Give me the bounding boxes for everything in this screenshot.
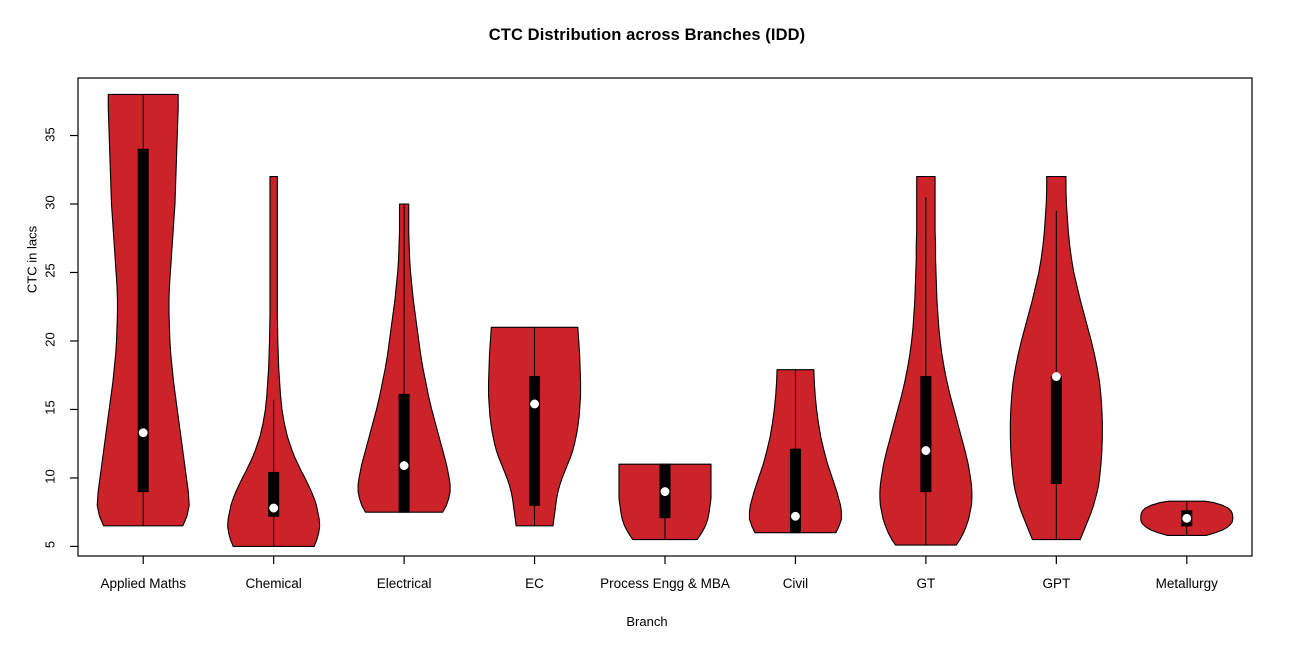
violin-group — [880, 177, 972, 545]
x-tick-label: Process Engg & MBA — [600, 576, 730, 591]
x-tick-label: Electrical — [377, 576, 432, 591]
iqr-box — [138, 149, 148, 491]
x-tick-label: EC — [525, 576, 544, 591]
median-point — [139, 429, 147, 437]
violin-group — [358, 204, 450, 512]
median-point — [530, 400, 538, 408]
y-tick-label: 30 — [43, 183, 58, 223]
median-point — [922, 446, 930, 454]
iqr-box — [530, 377, 540, 506]
violin-group — [619, 464, 711, 539]
violin-group — [1141, 501, 1233, 535]
median-point — [791, 512, 799, 520]
iqr-box — [1051, 377, 1061, 484]
violin-group — [228, 177, 320, 547]
median-point — [661, 487, 669, 495]
x-tick-label: GPT — [1042, 576, 1070, 591]
violin-group — [489, 327, 581, 526]
y-tick-label: 5 — [43, 525, 58, 565]
y-tick-label: 15 — [43, 388, 58, 428]
y-tick-label: 10 — [43, 456, 58, 496]
y-axis-title: CTC in lacs — [25, 200, 40, 320]
x-axis-title: Branch — [0, 614, 1294, 629]
median-point — [1052, 372, 1060, 380]
y-tick-label: 35 — [43, 114, 58, 154]
median-point — [1183, 514, 1191, 522]
y-tick-label: 20 — [43, 319, 58, 359]
y-tick-label: 25 — [43, 251, 58, 291]
median-point — [400, 461, 408, 469]
chart-root: CTC Distribution across Branches (IDD) C… — [0, 0, 1294, 653]
x-tick-label: GT — [917, 576, 936, 591]
x-tick-label: Civil — [783, 576, 809, 591]
x-tick-label: Chemical — [246, 576, 302, 591]
violin-group — [1010, 177, 1102, 540]
iqr-box — [399, 394, 409, 512]
violin-plot-canvas — [0, 0, 1294, 653]
x-tick-label: Applied Maths — [100, 576, 186, 591]
median-point — [269, 504, 277, 512]
x-tick-label: Metallurgy — [1156, 576, 1218, 591]
violin-group — [97, 94, 189, 525]
iqr-box — [921, 377, 931, 492]
violin-group — [749, 370, 841, 533]
